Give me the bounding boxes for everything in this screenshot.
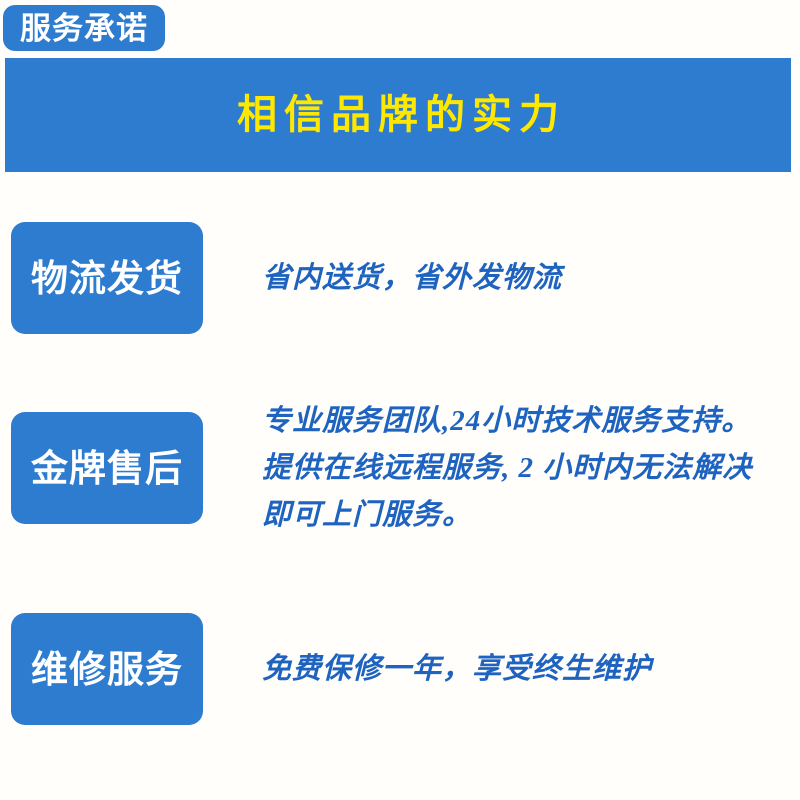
service-promise-tab[interactable]: 服务承诺 bbox=[3, 5, 165, 51]
service-description-line: 专业服务团队,24小时技术服务支持。 bbox=[262, 398, 800, 445]
service-badge-repair: 维修服务 bbox=[11, 613, 203, 725]
service-description-logistics: 省内送货，省外发物流 bbox=[262, 255, 800, 302]
service-row: 维修服务 免费保修一年，享受终生维护 bbox=[0, 613, 800, 725]
service-description-repair: 免费保修一年，享受终生维护 bbox=[262, 646, 800, 693]
service-row: 物流发货 省内送货，省外发物流 bbox=[0, 222, 800, 334]
service-description-line: 省内送货，省外发物流 bbox=[262, 255, 800, 302]
service-promise-tab-label: 服务承诺 bbox=[20, 13, 148, 44]
service-badge-logistics: 物流发货 bbox=[11, 222, 203, 334]
service-description-line: 提供在线远程服务, 2 小时内无法解决 bbox=[262, 445, 800, 492]
service-description-line: 免费保修一年，享受终生维护 bbox=[262, 646, 800, 693]
service-badge-label: 金牌售后 bbox=[31, 450, 183, 487]
hero-banner: 相信品牌的实力 bbox=[5, 58, 791, 172]
service-badge-label: 物流发货 bbox=[31, 260, 183, 297]
service-badge-aftersales: 金牌售后 bbox=[11, 412, 203, 524]
service-description-aftersales: 专业服务团队,24小时技术服务支持。 提供在线远程服务, 2 小时内无法解决 即… bbox=[262, 398, 800, 539]
hero-banner-title: 相信品牌的实力 bbox=[230, 95, 566, 135]
service-row: 金牌售后 专业服务团队,24小时技术服务支持。 提供在线远程服务, 2 小时内无… bbox=[0, 412, 800, 524]
service-badge-label: 维修服务 bbox=[31, 651, 183, 688]
service-description-line: 即可上门服务。 bbox=[262, 492, 800, 539]
